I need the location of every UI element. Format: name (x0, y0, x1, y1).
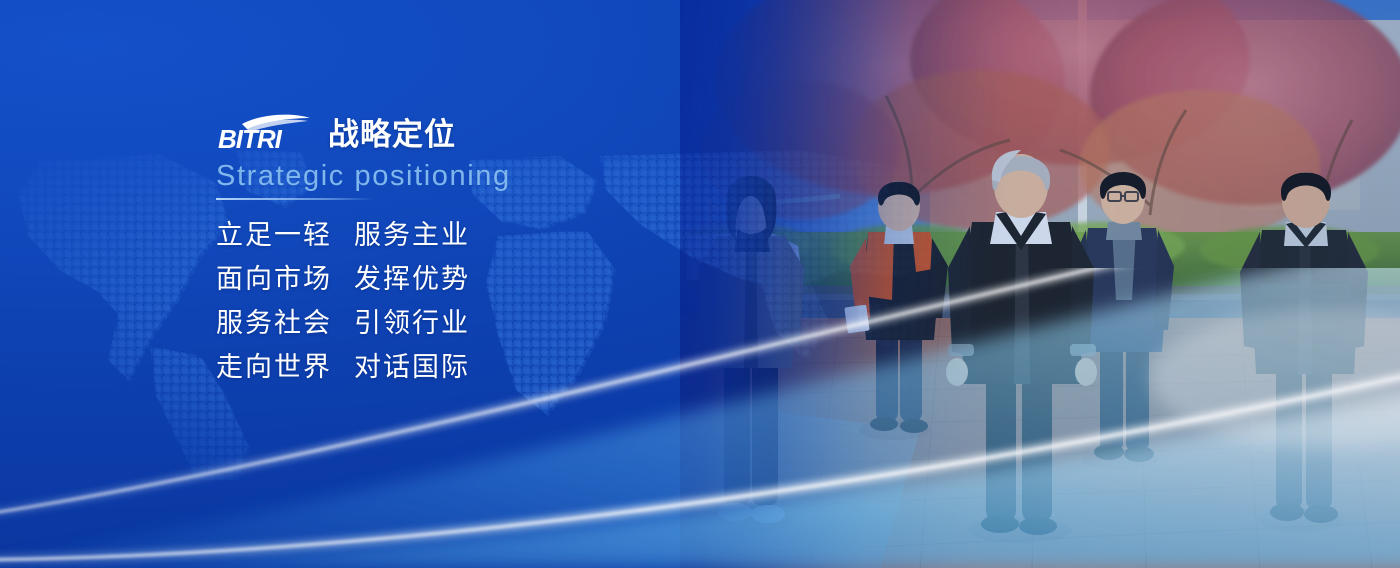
slogan-list: 立足一轻 服务主业 面向市场 发挥优势 服务社会 引领行业 走向世界 对话国际 (216, 220, 736, 382)
slogan-left: 面向市场 (216, 264, 354, 294)
slogan-left: 服务社会 (216, 308, 354, 338)
banner-title-cn: 战略定位 (328, 118, 456, 152)
slogan-line: 走向世界 对话国际 (216, 352, 736, 382)
slogan-left: 立足一轻 (216, 220, 354, 250)
banner-copy: BITRI 战略定位 Strategic positioning 立足一轻 服务… (216, 108, 736, 382)
slogan-right: 引领行业 (354, 308, 470, 338)
title-row: BITRI 战略定位 (216, 108, 736, 152)
strategic-positioning-banner: BITRI 战略定位 Strategic positioning 立足一轻 服务… (0, 0, 1400, 568)
slogan-right: 发挥优势 (354, 264, 470, 294)
slogan-line: 服务社会 引领行业 (216, 308, 736, 338)
group-photo (680, 0, 1400, 568)
title-divider (216, 198, 374, 200)
slogan-line: 面向市场 发挥优势 (216, 264, 736, 294)
slogan-line: 立足一轻 服务主业 (216, 220, 736, 250)
svg-text:BITRI: BITRI (218, 124, 283, 152)
slogan-right: 对话国际 (354, 352, 470, 382)
slogan-left: 走向世界 (216, 352, 354, 382)
bitri-logo: BITRI (216, 112, 314, 152)
banner-subtitle-en: Strategic positioning (216, 159, 736, 193)
slogan-right: 服务主业 (354, 220, 470, 250)
